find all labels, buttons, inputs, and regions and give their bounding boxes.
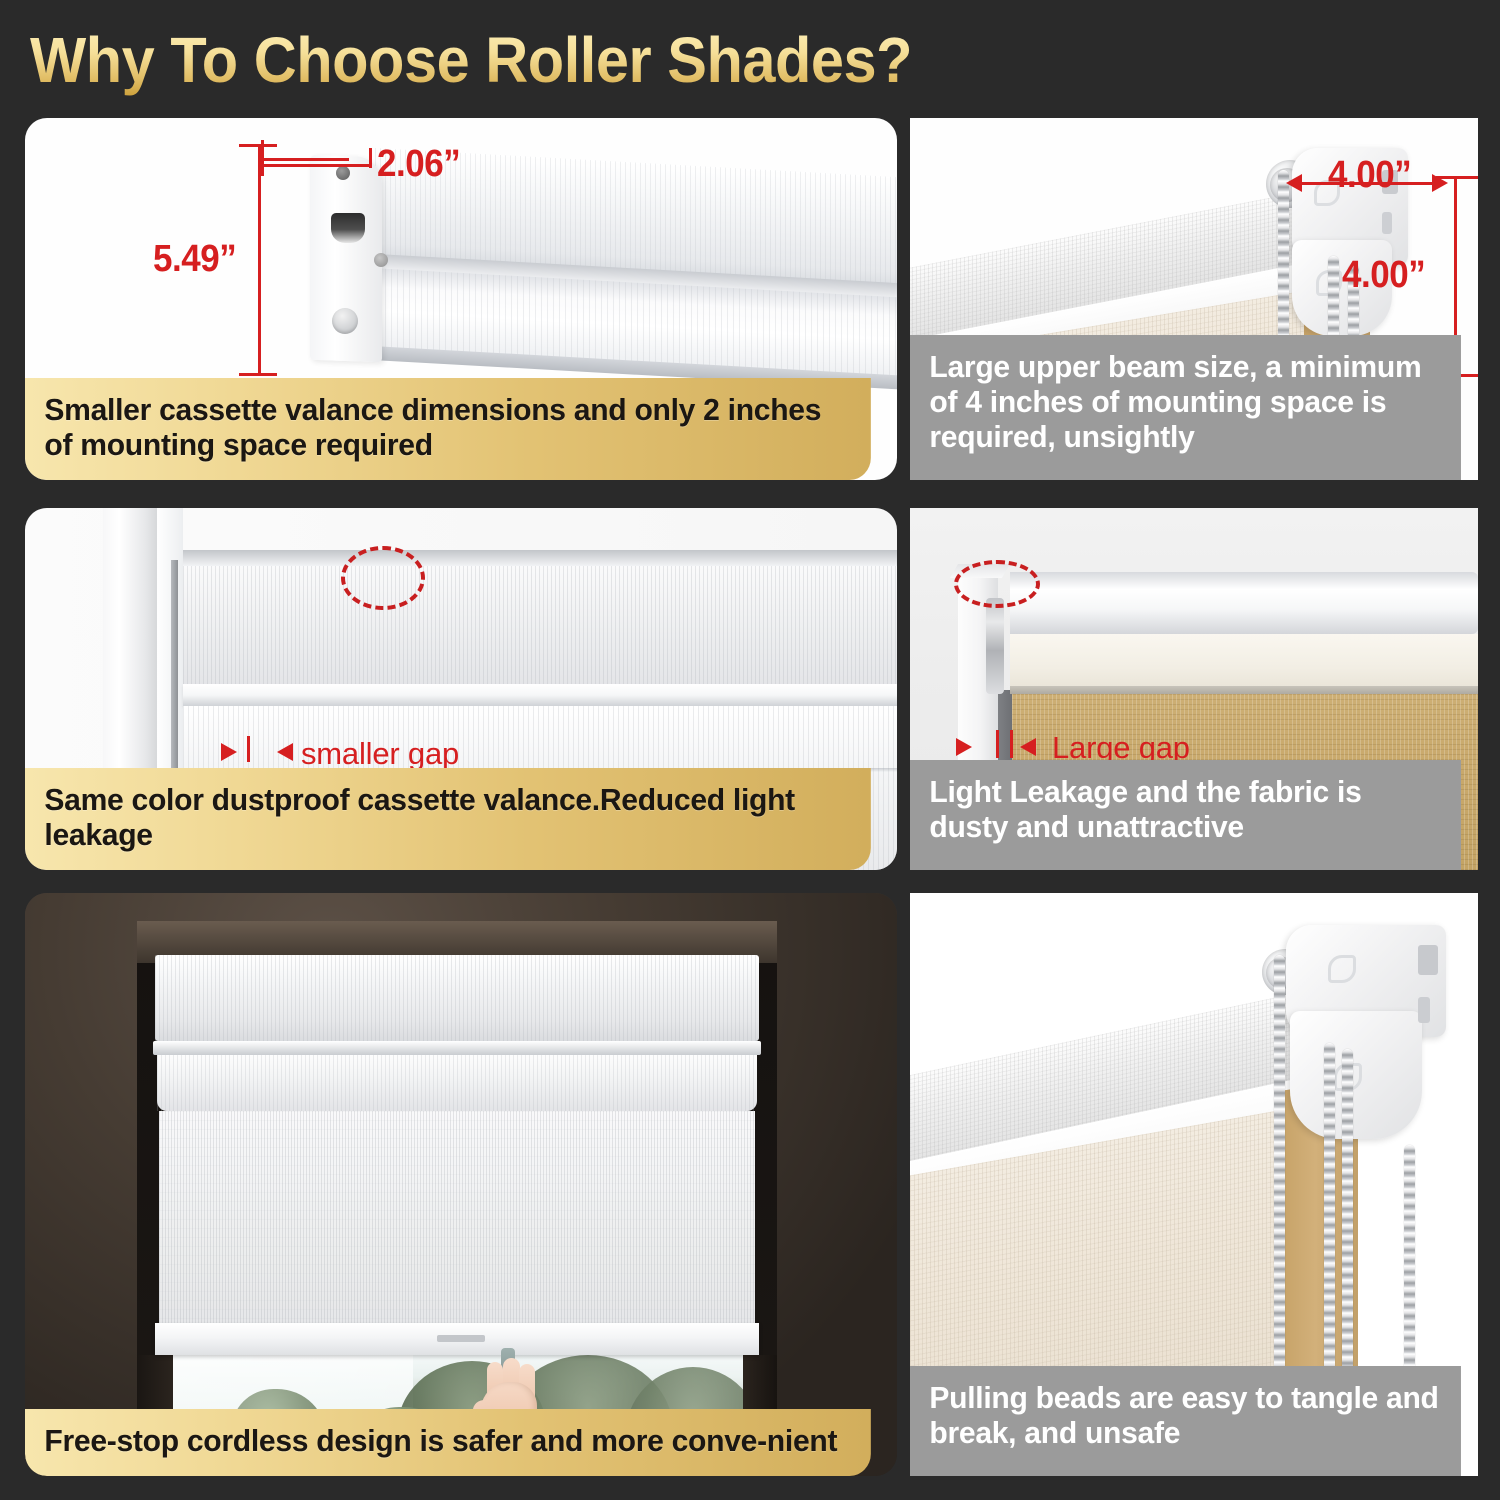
page-title: Why To Choose Roller Shades? [30,20,1239,100]
width-dimension-tick-right [369,148,372,168]
caption-large-gap: Light Leakage and the fabric is dusty an… [910,760,1461,870]
height-dimension-tick-top [239,144,277,147]
fabric-white-band [1010,634,1478,690]
panel-large-upper-beam: 4.00” 4.00” Large upper beam size, a min… [910,118,1478,480]
gap-callout-label: smaller gap [301,736,459,772]
bracket-notch-lower [1382,212,1392,234]
bead-chain-left [1274,955,1285,1413]
shade-pull-tab [437,1335,485,1342]
bracket-hardware [986,598,1004,694]
bracket-notch-lower [1418,997,1430,1023]
panel-pulling-beads: Pulling beads are easy to tangle and bre… [910,893,1478,1476]
roller-band-texture [157,1055,757,1111]
screw-top-icon [336,166,350,180]
caption-large-upper-beam: Large upper beam size, a minimum of 4 in… [910,335,1461,480]
gap-arrow-left [1020,738,1036,756]
width-dimension-line-2 [261,164,369,167]
fabric-edge-line [1010,686,1478,694]
width-dimension-label: 4.00” [1328,154,1411,197]
shade-upper-texture [183,566,897,684]
height-dimension-tick-bottom [239,373,277,376]
screw-mid-icon [374,253,388,267]
highlight-circle-icon [341,546,425,610]
gap-marker-line [247,736,250,762]
width-dimension-arrow-left [1286,174,1302,192]
bracket-notch-upper [1418,945,1438,975]
panel-cassette-dimensions: 2.06” 5.49” Smaller cassette valance dim… [25,118,897,480]
shade-fabric-texture [159,1111,755,1323]
gap-arrow-right [956,738,972,756]
caption-cassette-dimensions: Smaller cassette valance dimensions and … [25,378,871,480]
width-dimension-label: 2.06” [377,143,460,186]
height-dimension-label: 4.00” [1342,254,1425,297]
shade-mid-rail [183,684,897,706]
gap-arrow-right [221,743,237,761]
cassette-head-rail [183,550,897,566]
gap-marker-line-right [1010,730,1013,758]
panel-cordless-design: Free-stop cordless design is safer and m… [25,893,897,1476]
valance-rail [153,1041,761,1055]
screw-bottom-icon [332,308,358,334]
panel-smaller-gap: smaller gap Same color dustproof cassett… [25,508,897,870]
width-dimension-arrow-right [1432,174,1448,192]
gap-arrow-left [277,743,293,761]
bead-chain-mid [1324,1043,1335,1413]
bead-chain-mid-2 [1342,1049,1353,1413]
caption-smaller-gap: Same color dustproof cassette valance.Re… [25,768,871,870]
panel-large-gap: Large gap Light Leakage and the fabric i… [910,508,1478,870]
cassette-valance-texture [155,955,759,1041]
gap-marker-line-left [996,730,999,758]
cassette-slot [331,213,365,243]
bracket-logo-icon [1328,955,1356,983]
height-dimension-line [258,144,261,376]
photo-window-room-scene [25,893,897,1476]
roller-tube [1010,572,1478,634]
height-dimension-label: 5.49” [153,238,236,281]
highlight-circle-icon [954,560,1040,608]
width-dimension-line [261,158,349,161]
caption-cordless-design: Free-stop cordless design is safer and m… [25,1409,871,1476]
caption-pulling-beads: Pulling beads are easy to tangle and bre… [910,1366,1461,1476]
